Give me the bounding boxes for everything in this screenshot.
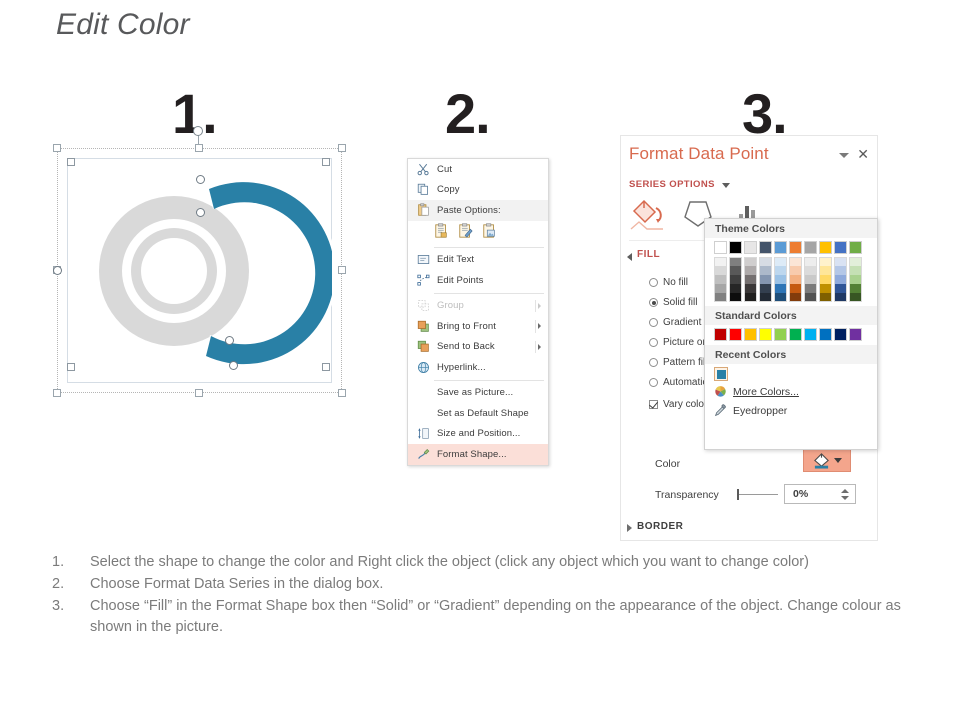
theme-shade-swatch[interactable] [729,266,742,275]
menu-label: Send to Back [434,341,538,352]
standard-color-swatch[interactable] [714,328,727,341]
menu-label: Bring to Front [434,321,538,332]
theme-shade-swatch[interactable] [834,275,847,284]
menu-separator [434,380,544,381]
standard-color-swatch[interactable] [744,328,757,341]
eyedropper-item[interactable]: Eyedropper [705,401,877,420]
resize-handle-ne[interactable] [338,144,346,152]
theme-shade-swatch[interactable] [729,257,742,266]
border-section-label[interactable]: BORDER [637,521,683,532]
menu-label: Save as Picture... [434,387,544,398]
more-colors-item[interactable]: More Colors... [705,382,877,401]
instruction-text: Select the shape to change the color and… [90,552,912,573]
theme-shade-swatch[interactable] [729,284,742,293]
submenu-divider [535,300,536,313]
transparency-slider-track[interactable] [738,494,778,495]
eyedropper-label: Eyedropper [733,405,787,417]
spinner-up-icon[interactable] [841,489,849,493]
theme-shade-swatch[interactable] [849,266,862,275]
menu-label: Group [434,300,538,311]
recent-color-chip [717,370,726,379]
resize-handle-sw[interactable] [53,389,61,397]
instruction-item: 1. Select the shape to change the color … [52,552,912,573]
theme-shade-swatch[interactable] [819,275,832,284]
theme-shade-swatch[interactable] [849,257,862,266]
paste-merge-icon[interactable] [458,223,473,242]
radio-no-fill[interactable]: No fill [649,277,688,288]
theme-shade-swatch[interactable] [714,293,727,302]
spinner-arrows[interactable] [838,489,855,500]
radio-solid-fill[interactable]: Solid fill [649,297,697,308]
paste-keep-formatting-icon[interactable] [434,223,449,242]
standard-colors-header: Standard Colors [705,306,877,325]
theme-shade-swatch[interactable] [714,284,727,293]
theme-color-column[interactable] [729,241,742,302]
submenu-divider [535,320,536,333]
radio-icon [649,378,658,387]
theme-color-column[interactable] [759,241,772,302]
radio-icon [649,278,658,287]
theme-shade-swatch[interactable] [804,284,817,293]
theme-shade-swatch[interactable] [744,275,757,284]
active-tab-indicator [631,222,663,229]
standard-color-swatch[interactable] [804,328,817,341]
theme-shade-swatch[interactable] [759,284,772,293]
hyperlink-icon [412,359,434,375]
menu-item-cut[interactable]: Cut [408,159,548,180]
donut-chart-selection[interactable] [57,148,342,393]
checkbox-icon-checked [649,400,658,409]
menu-label: Copy [434,184,544,195]
theme-shade-swatch[interactable] [834,284,847,293]
slice-handle-outer-end[interactable] [229,361,238,370]
theme-shade-swatch[interactable] [834,266,847,275]
theme-shade-swatch[interactable] [759,275,772,284]
chevron-down-icon[interactable] [834,458,842,463]
menu-item-format-shape[interactable]: Format Shape... [408,444,548,465]
menu-label: Paste Options: [434,205,544,216]
resize-handle-e[interactable] [338,266,346,274]
instruction-item: 3. Choose “Fill” in the Format Shape box… [52,596,912,638]
theme-shade-swatch[interactable] [789,275,802,284]
theme-shade-swatch[interactable] [714,257,727,266]
theme-color-swatch[interactable] [729,241,742,254]
menu-item-edit-text[interactable]: Edit Text [408,250,548,271]
standard-color-swatch[interactable] [819,328,832,341]
donut-hole [141,238,207,304]
size-position-icon [412,426,434,442]
format-shape-icon [412,446,434,462]
theme-color-column[interactable] [744,241,757,302]
standard-color-swatch[interactable] [834,328,847,341]
no-icon [412,405,434,421]
collapse-triangle-icon[interactable] [627,253,632,261]
theme-shade-swatch[interactable] [774,284,787,293]
page-title: Edit Color [56,8,190,42]
slice-handle-inner-end[interactable] [225,336,234,345]
theme-shade-swatch[interactable] [759,266,772,275]
theme-color-swatch[interactable] [789,241,802,254]
theme-color-column[interactable] [834,241,847,302]
theme-shade-swatch[interactable] [714,266,727,275]
theme-shade-swatch[interactable] [819,284,832,293]
radio-icon [649,358,658,367]
theme-color-swatch[interactable] [774,241,787,254]
theme-color-column[interactable] [804,241,817,302]
standard-color-swatch[interactable] [849,328,862,341]
menu-label: Size and Position... [434,428,544,439]
menu-item-paste-options[interactable]: Paste Options: [408,200,548,221]
transparency-spinner[interactable]: 0% [784,484,856,504]
donut-graphic[interactable] [67,158,332,383]
more-colors-label: More Colors... [733,386,799,398]
theme-color-swatch[interactable] [834,241,847,254]
option-label: Solid fill [663,297,697,308]
bring-front-icon [412,318,434,334]
menu-item-edit-points[interactable]: Edit Points [408,270,548,291]
pane-title: Format Data Point [629,144,769,164]
transparency-label: Transparency [655,489,719,501]
eyedropper-icon [714,404,727,417]
theme-shade-swatch[interactable] [849,275,862,284]
instruction-text: Choose Format Data Series in the dialog … [90,574,912,595]
transparency-slider-thumb[interactable] [737,489,739,500]
fill-section-label[interactable]: FILL [637,249,660,260]
theme-shade-swatch[interactable] [774,293,787,302]
menu-item-copy[interactable]: Copy [408,180,548,201]
recent-colors-row[interactable] [705,364,877,382]
theme-shade-swatch[interactable] [849,284,862,293]
group-icon [412,298,434,314]
theme-shade-swatch[interactable] [789,257,802,266]
series-options-label[interactable]: SERIES OPTIONS [629,179,715,190]
instruction-number: 1. [52,552,90,573]
color-picker-dropdown[interactable]: Theme Colors Standard Colors Recent Colo… [704,218,878,450]
theme-shade-swatch[interactable] [789,266,802,275]
no-icon [412,385,434,401]
chevron-down-icon[interactable] [722,183,730,188]
slice-handle-left[interactable] [53,266,62,275]
standard-color-swatch[interactable] [774,328,787,341]
slice-handle-outer-start[interactable] [196,175,205,184]
menu-label: Edit Text [434,254,544,265]
menu-item-save-as-picture[interactable]: Save as Picture... [408,383,548,404]
theme-shade-swatch[interactable] [804,275,817,284]
theme-colors-grid[interactable] [705,238,877,302]
theme-shade-swatch[interactable] [774,257,787,266]
theme-colors-header: Theme Colors [705,219,877,238]
theme-color-column[interactable] [819,241,832,302]
menu-separator [434,293,544,294]
theme-shade-swatch[interactable] [744,257,757,266]
theme-shade-swatch[interactable] [744,293,757,302]
option-label: Pattern fill [663,357,707,368]
resize-handle-se[interactable] [338,389,346,397]
menu-item-hyperlink[interactable]: Hyperlink... [408,357,548,378]
standard-colors-row[interactable] [705,325,877,345]
option-label: No fill [663,277,688,288]
radio-icon [649,318,658,327]
menu-item-set-default-shape[interactable]: Set as Default Shape [408,403,548,424]
instruction-number: 2. [52,574,90,595]
theme-shade-swatch[interactable] [774,275,787,284]
edit-points-icon [412,272,434,288]
theme-color-column[interactable] [774,241,787,302]
instructions-list: 1. Select the shape to change the color … [52,552,912,639]
theme-shade-swatch[interactable] [714,275,727,284]
theme-color-swatch[interactable] [714,241,727,254]
theme-color-column[interactable] [789,241,802,302]
color-wheel-icon [714,385,727,398]
menu-item-send-to-back[interactable]: Send to Back [408,337,548,358]
theme-shade-swatch[interactable] [819,257,832,266]
theme-shade-swatch[interactable] [729,293,742,302]
theme-color-column[interactable] [849,241,862,302]
option-label: Automatic [663,377,707,388]
scissors-icon [412,161,434,177]
theme-shade-swatch[interactable] [729,275,742,284]
theme-color-column[interactable] [714,241,727,302]
standard-color-swatch[interactable] [789,328,802,341]
color-picker-button[interactable] [803,448,851,472]
recent-colors-header: Recent Colors [705,345,877,364]
edit-text-icon [412,252,434,268]
fill-bucket-icon [634,201,661,223]
chevron-right-icon [538,323,541,329]
theme-color-swatch[interactable] [804,241,817,254]
theme-shade-swatch[interactable] [759,257,772,266]
theme-shade-swatch[interactable] [834,257,847,266]
clipboard-icon [412,202,434,218]
theme-shade-swatch[interactable] [744,266,757,275]
theme-shade-swatch[interactable] [819,293,832,302]
chevron-right-icon [538,344,541,350]
resize-handle-nw[interactable] [53,144,61,152]
menu-item-group: Group [408,296,548,317]
instruction-text: Choose “Fill” in the Format Shape box th… [90,596,912,638]
recent-color-swatch[interactable] [714,367,728,381]
theme-color-swatch[interactable] [744,241,757,254]
shape-context-menu[interactable]: Cut Copy Paste Options: [407,158,549,466]
paste-picture-icon[interactable] [482,223,497,242]
theme-color-swatch[interactable] [849,241,862,254]
menu-item-bring-to-front[interactable]: Bring to Front [408,316,548,337]
theme-shade-swatch[interactable] [774,266,787,275]
slide-canvas: Edit Color 1. 2. 3. [0,0,960,720]
slice-handle-inner-start[interactable] [196,208,205,217]
color-row-label: Color [655,458,680,470]
theme-shade-swatch[interactable] [804,257,817,266]
submenu-divider [535,341,536,354]
resize-handle-n[interactable] [195,144,203,152]
step-number-2: 2. [445,86,490,142]
theme-color-swatch[interactable] [819,241,832,254]
instruction-number: 3. [52,596,90,638]
expand-triangle-icon[interactable] [627,524,632,532]
theme-color-swatch[interactable] [759,241,772,254]
radio-icon-selected [649,298,658,307]
radio-automatic[interactable]: Automatic [649,377,707,388]
menu-label: Hyperlink... [434,362,544,373]
step-number-3: 3. [742,86,787,142]
theme-shade-swatch[interactable] [789,284,802,293]
standard-color-swatch[interactable] [729,328,742,341]
transparency-value: 0% [785,488,838,500]
chevron-right-icon [538,303,541,309]
menu-label: Edit Points [434,275,544,286]
menu-label: Format Shape... [434,449,544,460]
theme-shade-swatch[interactable] [834,293,847,302]
standard-color-swatch[interactable] [759,328,772,341]
theme-shade-swatch[interactable] [789,293,802,302]
radio-icon [649,338,658,347]
theme-shade-swatch[interactable] [819,266,832,275]
theme-shade-swatch[interactable] [759,293,772,302]
paint-bucket-icon [812,452,831,469]
instruction-item: 2. Choose Format Data Series in the dial… [52,574,912,595]
menu-label: Set as Default Shape [434,408,544,419]
menu-label: Cut [434,164,544,175]
radio-pattern-fill[interactable]: Pattern fill [649,357,707,368]
close-icon[interactable]: ✕ [857,147,869,161]
menu-item-size-and-position[interactable]: Size and Position... [408,424,548,445]
chevron-down-icon[interactable] [839,153,849,158]
paste-options-row[interactable] [408,221,548,245]
resize-handle-s[interactable] [195,389,203,397]
send-back-icon [412,339,434,355]
theme-shade-swatch[interactable] [804,266,817,275]
theme-shade-swatch[interactable] [744,284,757,293]
theme-shade-swatch[interactable] [804,293,817,302]
menu-separator [434,247,544,248]
theme-shade-swatch[interactable] [849,293,862,302]
spinner-down-icon[interactable] [841,496,849,500]
rotation-handle[interactable] [193,126,203,136]
copy-icon [412,182,434,198]
